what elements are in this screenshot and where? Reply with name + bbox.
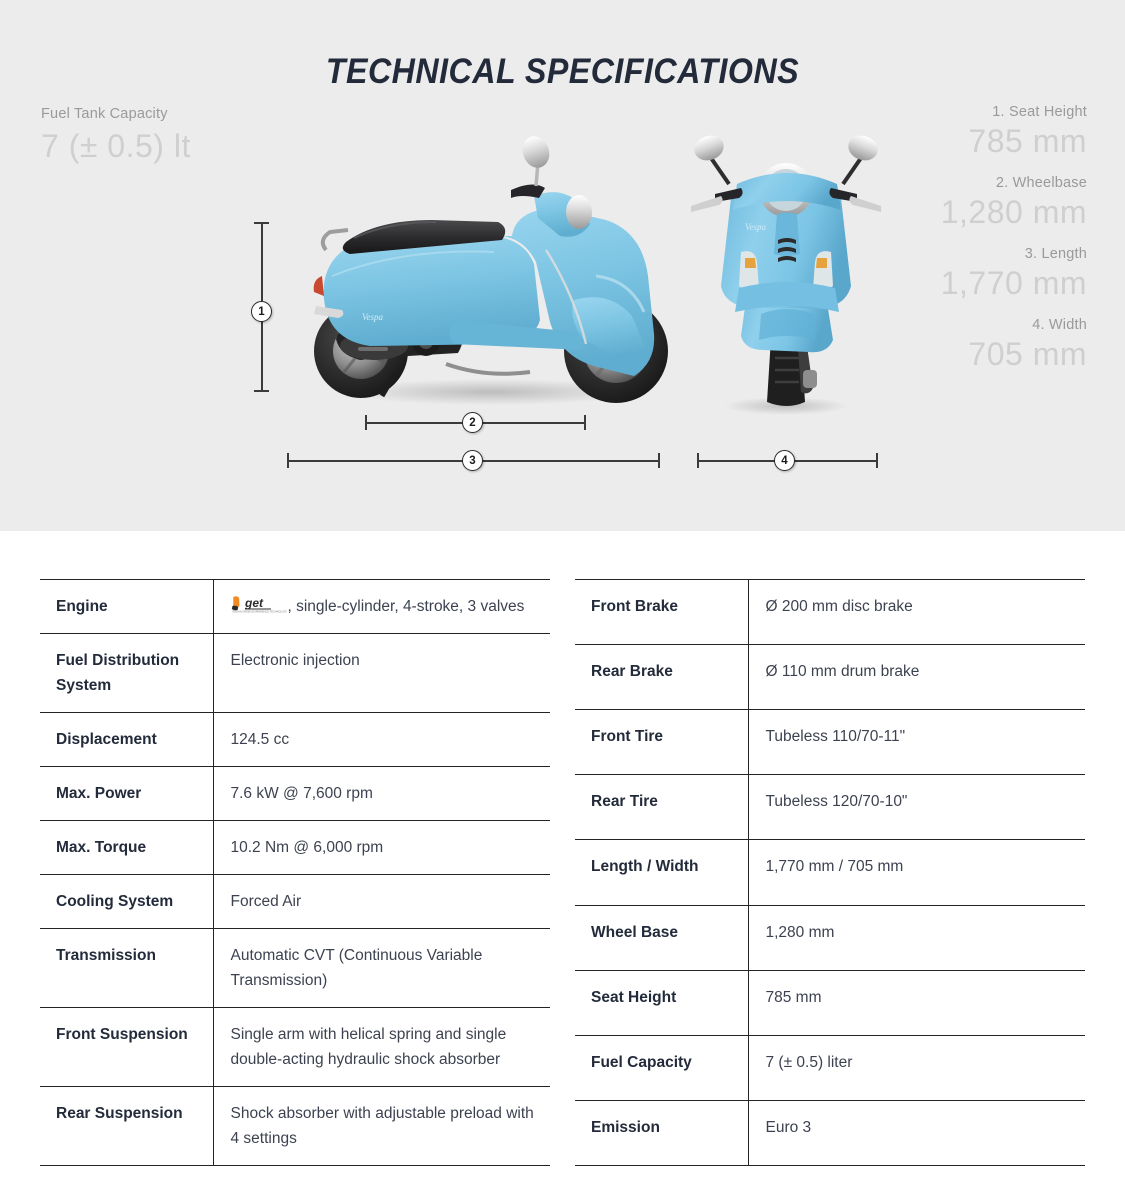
table-row: Front Suspension Single arm with helical… xyxy=(40,1008,550,1087)
fuel-tank-capacity-value: 7 (± 0.5) lt xyxy=(41,126,191,166)
spec-key: Engine xyxy=(40,580,213,634)
fuel-tank-capacity-label: Fuel Tank Capacity xyxy=(41,105,191,123)
table-row: Transmission Automatic CVT (Continuous V… xyxy=(40,929,550,1008)
svg-text:get: get xyxy=(244,596,264,610)
engine-specifications-table: Engine getITALIAN GREEN EXPERIENCE TECHN… xyxy=(40,579,550,1166)
spec-key: Rear Brake xyxy=(575,645,748,710)
dimension-badge-3: 3 xyxy=(462,450,483,471)
engine-description: , single-cylinder, 4-stroke, 3 valves xyxy=(288,598,525,615)
table-row: Front Brake Ø 200 mm disc brake xyxy=(575,580,1085,645)
spec-value: Shock absorber with adjustable preload w… xyxy=(213,1087,550,1166)
spec-value: Automatic CVT (Continuous Variable Trans… xyxy=(213,929,550,1008)
table-row: Fuel Distribution System Electronic inje… xyxy=(40,634,550,713)
spec-value: 7 (± 0.5) liter xyxy=(748,1035,1085,1100)
spec-value: 1,770 mm / 705 mm xyxy=(748,840,1085,905)
spec-value: Ø 200 mm disc brake xyxy=(748,580,1085,645)
spec-value: 785 mm xyxy=(748,970,1085,1035)
table-gap xyxy=(550,579,575,1166)
table-row: Max. Power 7.6 kW @ 7,600 rpm xyxy=(40,767,550,821)
spec-key: Length / Width xyxy=(575,840,748,905)
spec-key: Cooling System xyxy=(40,875,213,929)
table-row: Displacement 124.5 cc xyxy=(40,713,550,767)
scooter-side-view-image: Vespa xyxy=(296,124,686,409)
spec-key: Fuel Capacity xyxy=(575,1035,748,1100)
spec-value: 124.5 cc xyxy=(213,713,550,767)
spec-value: 7.6 kW @ 7,600 rpm xyxy=(213,767,550,821)
table-row: Rear Brake Ø 110 mm drum brake xyxy=(575,645,1085,710)
spec-key: Seat Height xyxy=(575,970,748,1035)
table-row: Seat Height 785 mm xyxy=(575,970,1085,1035)
table-row: Engine getITALIAN GREEN EXPERIENCE TECHN… xyxy=(40,580,550,634)
spec-key: Transmission xyxy=(40,929,213,1008)
spec-key: Wheel Base xyxy=(575,905,748,970)
spec-key: Front Brake xyxy=(575,580,748,645)
dimension-badge-1: 1 xyxy=(251,301,272,322)
spec-key: Displacement xyxy=(40,713,213,767)
spec-value: getITALIAN GREEN EXPERIENCE TECHNOLOGY, … xyxy=(213,580,550,634)
spec-key: Rear Tire xyxy=(575,775,748,840)
spec-key: Emission xyxy=(575,1100,748,1165)
spec-value: Single arm with helical spring and singl… xyxy=(213,1008,550,1087)
fuel-tank-capacity-block: Fuel Tank Capacity 7 (± 0.5) lt xyxy=(41,105,191,166)
table-row: Cooling System Forced Air xyxy=(40,875,550,929)
spec-key: Front Suspension xyxy=(40,1008,213,1087)
spec-value: Tubeless 110/70-11" xyxy=(748,710,1085,775)
scooter-front-view-image: Vespa xyxy=(683,118,888,418)
spec-key: Front Tire xyxy=(575,710,748,775)
spec-value: 10.2 Nm @ 6,000 rpm xyxy=(213,821,550,875)
table-row: Emission Euro 3 xyxy=(575,1100,1085,1165)
dimension-badge-4: 4 xyxy=(774,450,795,471)
chassis-specifications-table: Front Brake Ø 200 mm disc brake Rear Bra… xyxy=(575,579,1085,1166)
hero-section: TECHNICAL SPECIFICATIONS Fuel Tank Capac… xyxy=(0,0,1125,531)
page-title: TECHNICAL SPECIFICATIONS xyxy=(45,52,1080,92)
table-row: Front Tire Tubeless 110/70-11" xyxy=(575,710,1085,775)
table-row: Rear Tire Tubeless 120/70-10" xyxy=(575,775,1085,840)
spec-key: Max. Torque xyxy=(40,821,213,875)
spec-value: 1,280 mm xyxy=(748,905,1085,970)
dimension-badge-2: 2 xyxy=(462,412,483,433)
svg-text:Vespa: Vespa xyxy=(745,222,766,232)
spec-value: Euro 3 xyxy=(748,1100,1085,1165)
table-row: Length / Width 1,770 mm / 705 mm xyxy=(575,840,1085,905)
specifications-tables: Engine getITALIAN GREEN EXPERIENCE TECHN… xyxy=(0,531,1125,1166)
spec-key: Max. Power xyxy=(40,767,213,821)
spec-value: Ø 110 mm drum brake xyxy=(748,645,1085,710)
table-row: Rear Suspension Shock absorber with adju… xyxy=(40,1087,550,1166)
table-row: Wheel Base 1,280 mm xyxy=(575,905,1085,970)
spec-key: Fuel Distribution System xyxy=(40,634,213,713)
table-row: Max. Torque 10.2 Nm @ 6,000 rpm xyxy=(40,821,550,875)
i-get-logo-icon: getITALIAN GREEN EXPERIENCE TECHNOLOGY xyxy=(231,594,287,613)
spec-value: Forced Air xyxy=(213,875,550,929)
spec-value: Tubeless 120/70-10" xyxy=(748,775,1085,840)
svg-text:Vespa: Vespa xyxy=(362,312,383,322)
spec-value: Electronic injection xyxy=(213,634,550,713)
spec-key: Rear Suspension xyxy=(40,1087,213,1166)
svg-text:ITALIAN GREEN EXPERIENCE TECHN: ITALIAN GREEN EXPERIENCE TECHNOLOGY xyxy=(232,610,287,613)
table-row: Fuel Capacity 7 (± 0.5) liter xyxy=(575,1035,1085,1100)
